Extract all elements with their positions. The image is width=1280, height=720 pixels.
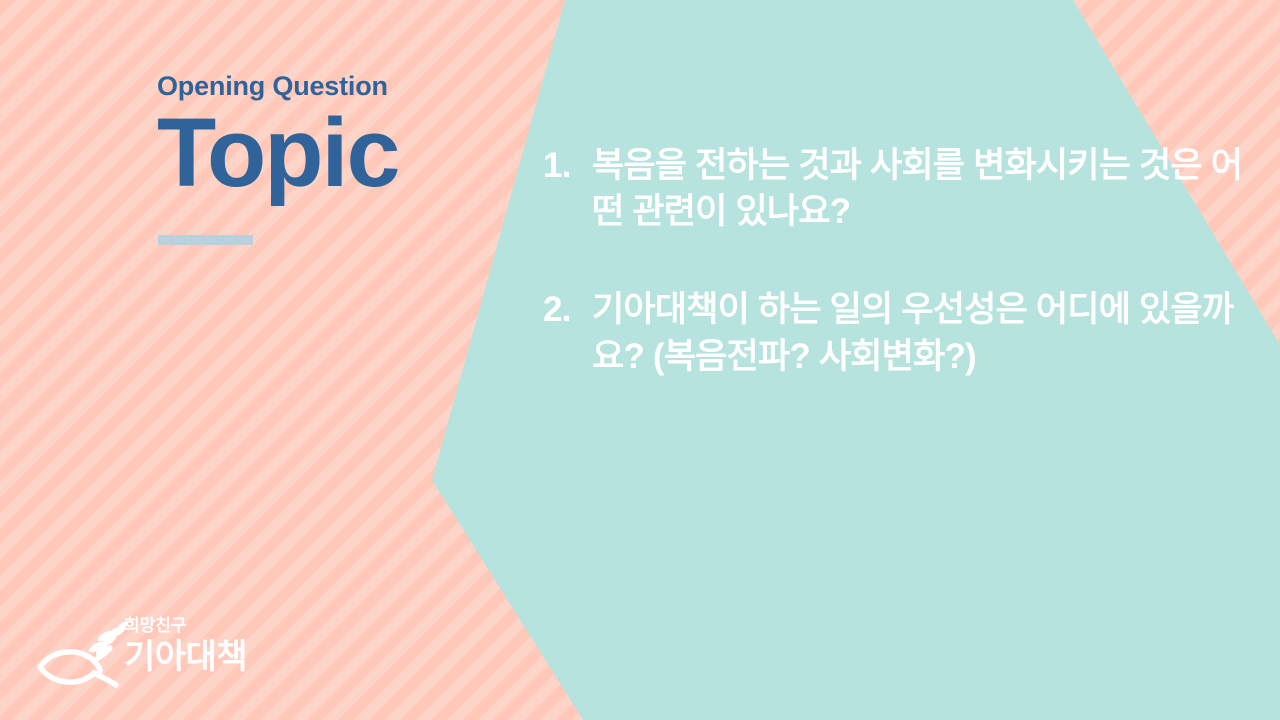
- page-title: Topic: [157, 104, 577, 201]
- title-underline-rule: [158, 235, 253, 245]
- list-item-text: 복음을 전하는 것과 사회를 변화시키는 것은 어떤 관련이 있나요?: [592, 143, 1260, 235]
- list-item-number: 1.: [543, 143, 587, 189]
- list-item-text: 기아대책이 하는 일의 우선성은 어디에 있을까요? (복음전파? 사회변화?): [592, 287, 1260, 379]
- list-item-number: 2.: [543, 287, 587, 333]
- organization-logo: 희망친구 기아대책: [36, 617, 266, 695]
- title-block: Opening Question Topic: [157, 72, 577, 201]
- question-list: 1. 복음을 전하는 것과 사회를 변화시키는 것은 어떤 관련이 있나요? 2…: [540, 143, 1260, 380]
- list-item: 2. 기아대책이 하는 일의 우선성은 어디에 있을까요? (복음전파? 사회변…: [540, 287, 1260, 379]
- presentation-slide: Opening Question Topic 1. 복음을 전하는 것과 사회를…: [0, 0, 1280, 720]
- fish-wheat-icon: [36, 621, 132, 691]
- list-item: 1. 복음을 전하는 것과 사회를 변화시키는 것은 어떤 관련이 있나요?: [540, 143, 1260, 235]
- logo-wordmark: 희망친구 기아대책: [124, 617, 269, 677]
- logo-sub-name: 희망친구: [124, 617, 269, 636]
- logo-main-name: 기아대책: [124, 638, 269, 677]
